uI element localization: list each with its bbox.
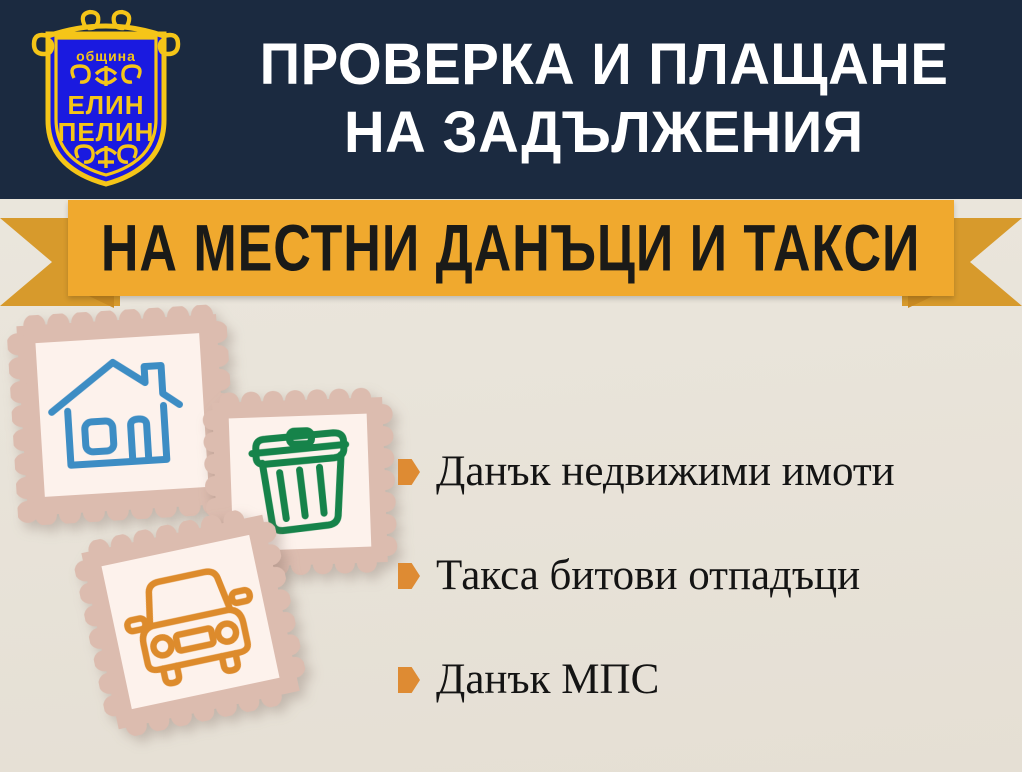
arrow-bullet-icon bbox=[398, 667, 420, 693]
page-title: ПРОВЕРКА И ПЛАЩАНЕ НА ЗАДЪЛЖЕНИЯ bbox=[186, 14, 1022, 184]
list-item-label: Данък недвижими имоти bbox=[436, 449, 895, 495]
tax-type-list: Данък недвижими имоти Такса битови отпад… bbox=[398, 420, 1008, 732]
stamp-card-group bbox=[0, 300, 420, 772]
svg-text:ЕЛИН: ЕЛИН bbox=[67, 90, 144, 120]
stamp-card-vehicle bbox=[69, 503, 311, 741]
poster-root: община ЕЛИН ПЕЛИН bbox=[0, 0, 1022, 772]
list-item[interactable]: Данък МПС bbox=[398, 628, 1008, 732]
title-line-1: ПРОВЕРКА И ПЛАЩАНЕ bbox=[260, 31, 949, 99]
municipality-logo: община ЕЛИН ПЕЛИН bbox=[26, 8, 186, 188]
list-item-label: Такса битови отпадъци bbox=[436, 553, 860, 599]
arrow-bullet-icon bbox=[398, 563, 420, 589]
arrow-bullet-icon bbox=[398, 459, 420, 485]
subtitle-ribbon: НА МЕСТНИ ДАНЪЦИ И ТАКСИ bbox=[0, 196, 1022, 312]
ribbon-label: НА МЕСТНИ ДАНЪЦИ И ТАКСИ bbox=[101, 214, 921, 282]
ribbon-band: НА МЕСТНИ ДАНЪЦИ И ТАКСИ bbox=[68, 200, 954, 296]
title-line-2: НА ЗАДЪЛЖЕНИЯ bbox=[344, 99, 864, 167]
header-bar: община ЕЛИН ПЕЛИН bbox=[0, 0, 1022, 199]
list-item-label: Данък МПС bbox=[436, 657, 659, 703]
list-item[interactable]: Такса битови отпадъци bbox=[398, 524, 1008, 628]
svg-text:ПЕЛИН: ПЕЛИН bbox=[58, 117, 155, 147]
svg-text:община: община bbox=[76, 48, 136, 64]
list-item[interactable]: Данък недвижими имоти bbox=[398, 420, 1008, 524]
